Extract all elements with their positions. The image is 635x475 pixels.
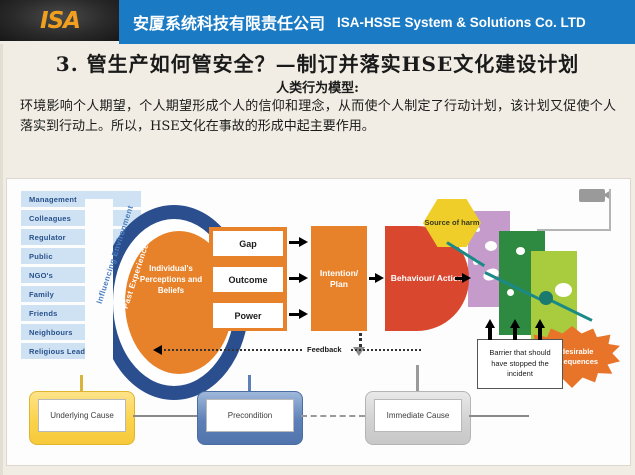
underlying-cause-stem	[80, 375, 83, 391]
slide: ISA 安厦系统科技有限责任公司 ISA-HSSE System & Solut…	[0, 0, 635, 475]
barrier-hole	[555, 283, 572, 297]
stakeholder-label: Regulator	[29, 233, 66, 242]
ring-left-mask	[85, 199, 113, 409]
camera-frame-horizontal	[537, 229, 611, 231]
harm-trajectory-node	[539, 291, 553, 305]
precondition-stem	[248, 375, 251, 391]
arrow-to-intention-icon	[299, 237, 308, 247]
barrier-hole	[485, 241, 497, 251]
connector-line	[133, 415, 197, 417]
factor-gap: Gap	[213, 231, 283, 256]
human-behaviour-model-diagram: Management Colleagues Regulator Public N…	[6, 178, 631, 466]
barrier-up-stem	[538, 327, 542, 340]
underlying-cause-box: Underlying Cause	[29, 391, 135, 445]
feedback-arrow-icon	[153, 345, 162, 355]
barrier-up-stem	[488, 327, 492, 340]
arrow-to-intention-icon	[299, 309, 308, 319]
camera-frame-vertical	[609, 189, 611, 231]
body-paragraph: 环境影响个人期望，个人期望形成个人的信仰和理念，从而使个人制定了行动计划，该计划…	[20, 97, 616, 137]
stakeholder-label: Management	[29, 195, 77, 204]
barrier-hole	[507, 289, 514, 296]
company-name-cn: 安厦系统科技有限责任公司	[133, 10, 325, 34]
feedback-dotted-line	[351, 349, 421, 351]
underlying-cause-label: Underlying Cause	[38, 399, 126, 432]
arrow-stem	[289, 241, 299, 244]
stakeholder-label: Colleagues	[29, 214, 71, 223]
core-label: Individual's Perceptions and Beliefs	[135, 263, 207, 296]
arrow-to-barriers-icon	[462, 273, 471, 283]
feedback-dotted-line	[157, 349, 305, 351]
immediate-cause-label: Immediate Cause	[374, 399, 462, 432]
stakeholder-label: Neighbours	[29, 328, 73, 337]
camera-body	[579, 189, 605, 202]
behaviour-down-dotted	[359, 333, 362, 347]
stakeholder-label: Friends	[29, 309, 58, 318]
arrow-to-intention-icon	[299, 273, 308, 283]
header-title-bar: 安厦系统科技有限责任公司 ISA-HSSE System & Solutions…	[119, 0, 635, 44]
arrow-to-behaviour-icon	[375, 273, 384, 283]
intention-plan-box: Intention/ Plan	[311, 226, 367, 331]
factor-power: Power	[213, 303, 283, 328]
precondition-box: Precondition	[197, 391, 303, 445]
list-item: Management	[21, 191, 141, 207]
immediate-cause-stem	[416, 365, 419, 391]
feedback-label: Feedback	[303, 345, 346, 354]
arrow-stem	[289, 277, 299, 280]
page-title: 3. 管生产如何管安全？—制订并落实HSE文化建设计划	[0, 48, 635, 77]
barrier-note-box: Barrier that should have stopped the inc…	[477, 339, 563, 389]
logo-text: ISA	[0, 0, 120, 41]
connector-line	[469, 415, 529, 417]
barrier-up-stem	[513, 327, 517, 340]
immediate-cause-box: Immediate Cause	[365, 391, 471, 445]
barrier-hole	[516, 247, 525, 255]
stakeholder-label: Public	[29, 252, 53, 261]
company-logo: ISA	[0, 0, 120, 41]
connector-dashed-line	[301, 415, 365, 417]
company-name-en: ISA-HSSE System & Solutions Co. LTD	[337, 15, 586, 30]
precondition-label: Precondition	[206, 399, 294, 432]
slide-header: ISA 安厦系统科技有限责任公司 ISA-HSSE System & Solut…	[0, 0, 635, 44]
page-subtitle: 人类行为模型:	[0, 77, 635, 96]
stakeholder-label: Family	[29, 290, 54, 299]
arrow-stem	[289, 313, 299, 316]
stakeholder-label: NGO's	[29, 271, 53, 280]
factor-outcome: Outcome	[213, 267, 283, 292]
